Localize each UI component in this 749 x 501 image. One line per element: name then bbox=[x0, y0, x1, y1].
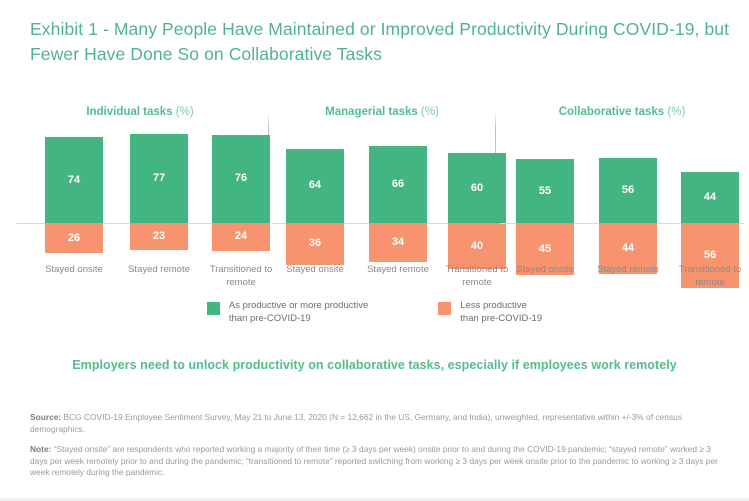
bar-positive: 76 bbox=[212, 135, 270, 223]
chart-legend: As productive or more productive than pr… bbox=[0, 300, 749, 325]
bar-negative: 36 bbox=[286, 223, 344, 265]
panel-managerial-tasks: Managerial tasks (%) 64 36 Stayed onsite bbox=[270, 106, 494, 286]
panel-heading-collaborative: Collaborative tasks (%) bbox=[498, 106, 746, 118]
exhibit-chart-page: Exhibit 1 - Many People Have Maintained … bbox=[0, 0, 749, 501]
takeaway-statement: Employers need to unlock productivity on… bbox=[0, 358, 749, 372]
plot-individual: 74 26 Stayed onsite 77 23 Stayed remote bbox=[14, 132, 266, 286]
legend-item-negative: Less productive than pre-COVID-19 bbox=[438, 300, 542, 325]
bar-value-positive: 44 bbox=[681, 192, 739, 203]
bar-value-negative: 23 bbox=[130, 231, 188, 242]
legend-swatch-orange-icon bbox=[438, 302, 451, 315]
panel-heading-individual: Individual tasks (%) bbox=[14, 106, 266, 118]
footnote-label: Note: bbox=[30, 444, 51, 454]
category-label: Stayed onsite bbox=[31, 264, 117, 277]
panel-heading-unit: (%) bbox=[667, 106, 685, 118]
bar-value-positive: 77 bbox=[130, 173, 188, 184]
panel-heading-label: Collaborative tasks bbox=[559, 106, 664, 118]
footnote-source: Source: BCG COVID-19 Employee Sentiment … bbox=[30, 412, 730, 435]
bar-positive: 55 bbox=[516, 159, 574, 223]
bar-value-negative: 24 bbox=[212, 231, 270, 242]
panel-individual-tasks: Individual tasks (%) 74 26 Stayed onsite bbox=[14, 106, 266, 286]
bar-value-negative: 44 bbox=[599, 243, 657, 254]
bar-group: 66 34 Stayed remote bbox=[369, 132, 427, 286]
bar-value-positive: 76 bbox=[212, 173, 270, 184]
bar-positive: 44 bbox=[681, 172, 739, 223]
bar-group: 56 44 Stayed remote bbox=[599, 132, 657, 286]
bar-value-negative: 26 bbox=[45, 233, 103, 244]
bar-value-positive: 56 bbox=[599, 185, 657, 196]
panel-heading-unit: (%) bbox=[421, 106, 439, 118]
bar-positive: 77 bbox=[130, 134, 188, 223]
footnote-note: Note: “Stayed onsite” are respondents wh… bbox=[30, 444, 730, 479]
category-label: Stayed remote bbox=[116, 264, 202, 277]
legend-label: Less productive than pre-COVID-19 bbox=[460, 300, 542, 325]
bar-group: 64 36 Stayed onsite bbox=[286, 132, 344, 286]
bar-group: 74 26 Stayed onsite bbox=[45, 132, 103, 286]
footnotes: Source: BCG COVID-19 Employee Sentiment … bbox=[30, 412, 730, 488]
legend-item-positive: As productive or more productive than pr… bbox=[207, 300, 368, 325]
panel-collaborative-tasks: Collaborative tasks (%) 55 45 Stayed ons… bbox=[498, 106, 746, 286]
footnote-label: Source: bbox=[30, 412, 61, 422]
bar-value-positive: 55 bbox=[516, 186, 574, 197]
panel-heading-managerial: Managerial tasks (%) bbox=[270, 106, 494, 118]
footnote-text: BCG COVID-19 Employee Sentiment Survey, … bbox=[30, 412, 682, 434]
bar-positive: 74 bbox=[45, 137, 103, 223]
plot-managerial: 64 36 Stayed onsite 66 34 Stayed remote bbox=[270, 132, 494, 286]
bar-group: 55 45 Stayed onsite bbox=[516, 132, 574, 286]
category-label: Stayed remote bbox=[355, 264, 441, 277]
category-label: Stayed remote bbox=[585, 264, 671, 277]
bar-value-negative: 56 bbox=[681, 250, 739, 261]
plot-collaborative: 55 45 Stayed onsite 56 44 Stayed remote bbox=[498, 132, 746, 286]
bar-positive: 66 bbox=[369, 146, 427, 223]
bar-value-negative: 34 bbox=[369, 237, 427, 248]
bar-group: 76 24 Transitioned to remote bbox=[212, 132, 270, 286]
bar-negative: 24 bbox=[212, 223, 270, 251]
category-label: Stayed onsite bbox=[272, 264, 358, 277]
bar-value-negative: 45 bbox=[516, 244, 574, 255]
bar-positive: 56 bbox=[599, 158, 657, 223]
bar-group: 77 23 Stayed remote bbox=[130, 132, 188, 286]
footnote-text: “Stayed onsite” are respondents who repo… bbox=[30, 444, 718, 477]
bar-value-negative: 36 bbox=[286, 238, 344, 249]
legend-label: As productive or more productive than pr… bbox=[229, 300, 368, 325]
legend-swatch-green-icon bbox=[207, 302, 220, 315]
bar-negative: 23 bbox=[130, 223, 188, 250]
bar-positive: 64 bbox=[286, 149, 344, 223]
category-label: Transitioned to remote bbox=[667, 264, 749, 289]
panel-heading-label: Managerial tasks bbox=[325, 106, 418, 118]
panel-heading-unit: (%) bbox=[176, 106, 194, 118]
bar-value-positive: 74 bbox=[45, 175, 103, 186]
bar-negative: 26 bbox=[45, 223, 103, 253]
chart-area: Individual tasks (%) 74 26 Stayed onsite bbox=[0, 106, 749, 286]
panel-heading-label: Individual tasks bbox=[86, 106, 172, 118]
bar-group: 44 56 Transitioned to remote bbox=[681, 132, 739, 286]
bar-negative: 34 bbox=[369, 223, 427, 262]
bar-value-positive: 66 bbox=[369, 179, 427, 190]
bar-value-positive: 64 bbox=[286, 180, 344, 191]
category-label: Stayed onsite bbox=[502, 264, 588, 277]
page-title: Exhibit 1 - Many People Have Maintained … bbox=[30, 17, 730, 67]
